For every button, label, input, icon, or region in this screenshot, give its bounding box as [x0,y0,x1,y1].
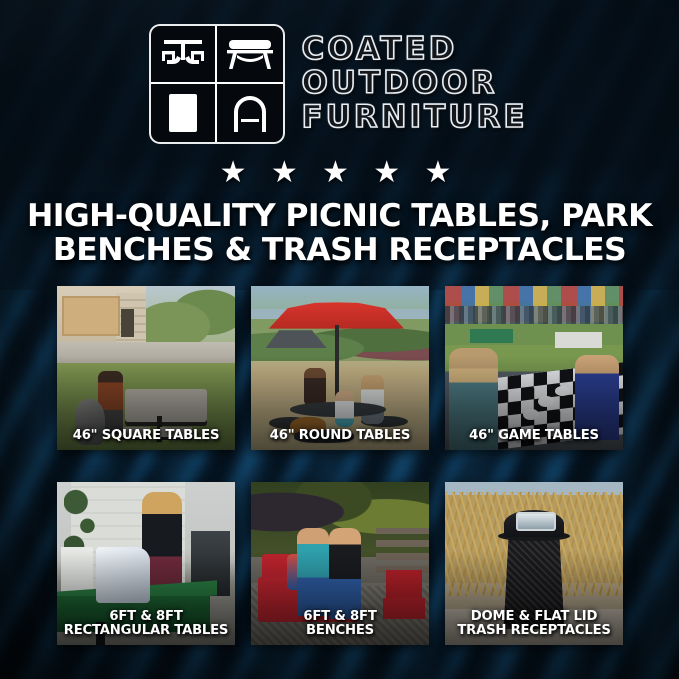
product-category-grid: 46" SQUARE TABLES 46" ROUND TABLES [57,286,623,645]
tile-caption-line-1: 46" ROUND TABLES [270,428,410,443]
tile-caption-line-2: BENCHES [255,624,425,638]
tile-caption: 6FT & 8FT BENCHES [255,610,425,639]
tile-caption: 46" SQUARE TABLES [61,429,231,443]
tile-caption-line-1: DOME & FLAT LID [471,609,597,624]
brand-name-line-1: COATED [301,34,527,66]
brand-wordmark: COATED OUTDOOR FURNITURE [301,34,527,134]
brand-name-line-3: FURNITURE [301,102,527,134]
star-rating: ★ ★ ★ ★ ★ [0,158,679,188]
tile-caption-line-2: RECTANGULAR TABLES [61,624,231,638]
tile-square-tables[interactable]: 46" SQUARE TABLES [57,286,235,450]
picnic-table-icon [151,26,217,84]
tile-benches[interactable]: 6FT & 8FT BENCHES [251,482,429,645]
tile-round-tables[interactable]: 46" ROUND TABLES [251,286,429,450]
headline-line-1: HIGH-QUALITY PICNIC TABLES, PARK [27,198,652,234]
tile-rectangular-tables[interactable]: 6FT & 8FT RECTANGULAR TABLES [57,482,235,645]
tile-caption: 46" GAME TABLES [449,429,619,443]
brand-name-line-2: OUTDOOR [301,68,527,100]
promo-banner: COATED OUTDOOR FURNITURE ★ ★ ★ ★ ★ HIGH-… [0,0,679,679]
page-title: HIGH-QUALITY PICNIC TABLES, PARK BENCHES… [24,200,655,267]
tile-trash-receptacles[interactable]: DOME & FLAT LID TRASH RECEPTACLES [445,482,623,645]
tile-caption: 6FT & 8FT RECTANGULAR TABLES [61,610,231,639]
tile-caption-line-1: 6FT & 8FT [109,609,182,624]
bench-table-icon [217,26,283,84]
tile-caption-line-1: 46" GAME TABLES [469,428,599,443]
bike-rack-icon [217,84,283,142]
logo-icon-grid [151,26,283,142]
tile-caption-line-2: TRASH RECEPTACLES [449,624,619,638]
tile-caption-line-1: 6FT & 8FT [303,609,376,624]
tile-caption: DOME & FLAT LID TRASH RECEPTACLES [449,610,619,639]
trash-receptacle-icon [151,84,217,142]
tile-game-tables[interactable]: 46" GAME TABLES [445,286,623,450]
tile-caption-line-1: 46" SQUARE TABLES [73,428,220,443]
tile-caption: 46" ROUND TABLES [255,429,425,443]
headline-line-2: BENCHES & TRASH RECEPTACLES [24,234,655,268]
brand-logo: COATED OUTDOOR FURNITURE [0,26,679,142]
